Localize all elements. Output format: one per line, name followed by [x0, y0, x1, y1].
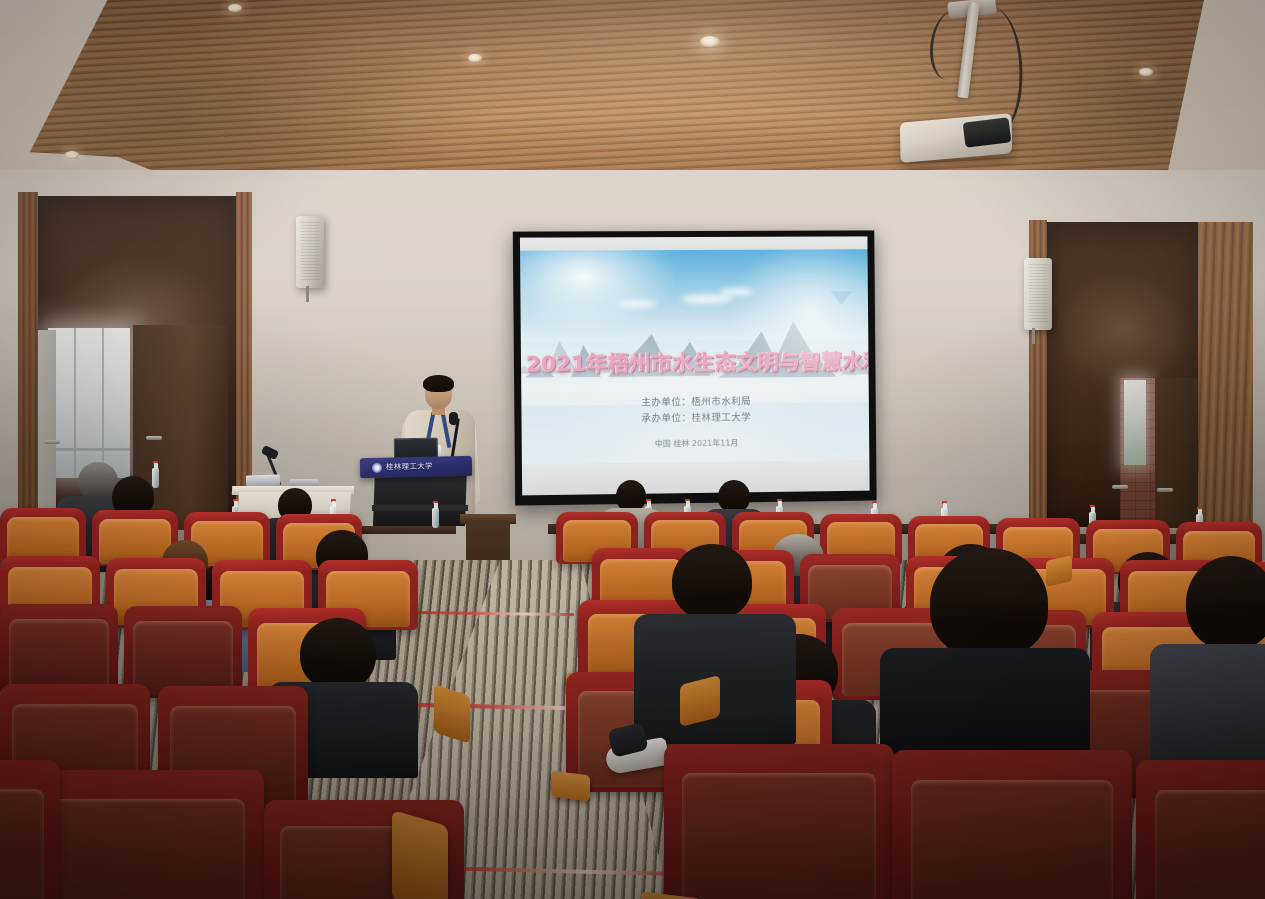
- ceiling-downlight: [700, 36, 720, 47]
- podium-institution-label: 桂林理工大学: [386, 461, 433, 472]
- water-bottle: [432, 508, 439, 528]
- seat-armrest: [1046, 555, 1072, 587]
- auditorium-seat[interactable]: [0, 760, 60, 899]
- av-equipment: [246, 474, 280, 486]
- eyeglasses-icon: [427, 390, 450, 396]
- wall-speaker-left: [296, 216, 324, 288]
- wall-speaker-right: [1024, 258, 1052, 330]
- ceiling-downlight: [468, 54, 482, 62]
- podium-front-panel: 桂林理工大学: [360, 456, 472, 478]
- ceiling-downlight: [1139, 68, 1153, 76]
- slide-title: 2021年梧州市水生态文明与智慧水利培训班: [526, 346, 870, 379]
- seat-armrest: [392, 810, 448, 899]
- auditorium-seat[interactable]: [664, 744, 894, 899]
- auditorium-seat[interactable]: [0, 604, 118, 696]
- ceiling-downlight: [65, 151, 79, 159]
- presentation-slide: 2021年梧州市水生态文明与智慧水利培训班 主办单位：梧州市水利局 承办单位：桂…: [520, 249, 869, 464]
- auditorium-seat[interactable]: [1136, 760, 1265, 899]
- university-crest-icon: [372, 463, 382, 473]
- podium-shelf: [372, 505, 468, 511]
- microphone-head-icon: [449, 412, 458, 425]
- auditorium-seat[interactable]: [892, 750, 1132, 899]
- screen-bottom-band: [522, 460, 870, 496]
- speaker-bracket: [306, 286, 309, 302]
- ceiling-downlight: [228, 4, 242, 12]
- auditorium-photo: 2021年梧州市水生态文明与智慧水利培训班 主办单位：梧州市水利局 承办单位：桂…: [0, 0, 1265, 899]
- screen-surface: 2021年梧州市水生态文明与智慧水利培训班 主办单位：梧州市水利局 承办单位：桂…: [520, 236, 870, 495]
- water-bottle: [152, 468, 159, 488]
- auditorium-seat[interactable]: [28, 770, 264, 899]
- projection-screen: 2021年梧州市水生态文明与智慧水利培训班 主办单位：梧州市水利局 承办单位：桂…: [513, 230, 877, 505]
- speaker-bracket: [1032, 328, 1035, 344]
